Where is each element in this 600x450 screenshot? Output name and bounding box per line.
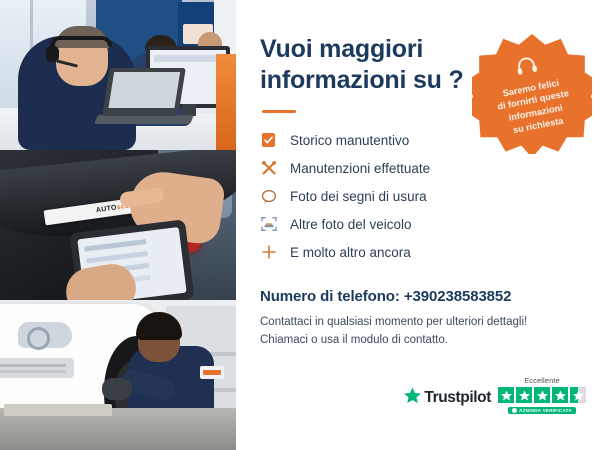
title-divider bbox=[262, 110, 296, 113]
phone-number-line: Numero di telefono: +390238583852 bbox=[260, 288, 578, 305]
phone-number[interactable]: +390238583852 bbox=[404, 288, 512, 305]
rating-star-4 bbox=[552, 387, 568, 403]
car-headlight bbox=[18, 322, 72, 348]
orange-partition bbox=[216, 54, 236, 150]
photo-column: AUTOscout bbox=[0, 0, 236, 450]
list-item-label: Manutenzioni effettuate bbox=[290, 161, 430, 176]
phone-label: Numero di telefono: bbox=[260, 288, 404, 305]
trustpilot-rating-label: Eccellente bbox=[524, 376, 560, 385]
trustpilot-widget[interactable]: Trustpilot Eccellente bbox=[404, 376, 586, 414]
laptop-base bbox=[94, 115, 194, 124]
list-item-molto-altro-ancora: E molto altro ancora bbox=[260, 238, 578, 266]
trustpilot-star-row bbox=[498, 387, 586, 403]
speech-bubble-icon bbox=[260, 188, 277, 205]
list-item-label: Foto dei segni di usura bbox=[290, 189, 427, 204]
headset-band bbox=[50, 36, 112, 46]
car-frame-icon bbox=[260, 216, 277, 233]
star-icon bbox=[404, 387, 421, 409]
trustpilot-rating: Eccellente bbox=[498, 376, 586, 414]
rating-star-2 bbox=[516, 387, 532, 403]
list-item-altre-foto-veicolo: Altre foto del veicolo bbox=[260, 210, 578, 238]
photo-call-center-agents-with-headsets bbox=[0, 0, 236, 150]
car-grille bbox=[0, 358, 74, 378]
document-check-icon bbox=[260, 132, 277, 149]
plus-icon bbox=[260, 244, 277, 261]
list-item-label: Altre foto del veicolo bbox=[290, 217, 412, 232]
uniform-logo-patch bbox=[200, 366, 224, 379]
callout-badge-text: Saremo felici di fornirti queste informa… bbox=[485, 73, 585, 140]
contact-subtext-line-2: Chiamaci o usa il modulo di contatto. bbox=[260, 334, 448, 346]
content-panel: Vuoi maggiori informazioni su ? Storico … bbox=[236, 0, 600, 450]
wrench-screwdriver-icon bbox=[260, 160, 277, 177]
rating-star-5-partial bbox=[570, 387, 586, 403]
headset-icon bbox=[514, 54, 540, 81]
list-item-label: E molto altro ancora bbox=[290, 245, 411, 260]
callout-badge: Saremo felici di fornirti queste informa… bbox=[472, 34, 592, 154]
lift-arm bbox=[4, 404, 112, 416]
page-title: Vuoi maggiori informazioni su ? bbox=[260, 34, 490, 96]
list-item-label: Storico manutentivo bbox=[290, 133, 409, 148]
callout-badge-content: Saremo felici di fornirti queste informa… bbox=[462, 24, 600, 165]
photo-vehicle-inspection-ruler-tablet: AUTOscout bbox=[0, 150, 236, 300]
contact-subtext: Contattaci in qualsiasi momento per ulte… bbox=[260, 313, 578, 349]
promo-banner: AUTOscout Vuoi maggiori infor bbox=[0, 0, 600, 450]
trustpilot-logo: Trustpilot bbox=[404, 387, 491, 414]
list-item-manutenzioni-effettuate: Manutenzioni effettuate bbox=[260, 154, 578, 182]
laptop-screen bbox=[102, 68, 186, 116]
check-circle-icon bbox=[512, 408, 517, 413]
contact-subtext-line-1: Contattaci in qualsiasi momento per ulte… bbox=[260, 316, 527, 328]
verified-business-badge: AZIENDA VERIFICATA bbox=[508, 407, 576, 414]
page-title-line-2: informazioni su ? bbox=[260, 66, 464, 94]
photo-mechanic-inspecting-wheel-on-lift bbox=[0, 300, 236, 450]
page-title-line-1: Vuoi maggiori bbox=[260, 35, 423, 63]
list-item-foto-segni-usura: Foto dei segni di usura bbox=[260, 182, 578, 210]
mechanic-glove bbox=[102, 378, 132, 400]
verified-business-label: AZIENDA VERIFICATA bbox=[519, 408, 572, 413]
rating-star-1 bbox=[498, 387, 514, 403]
trustpilot-wordmark: Trustpilot bbox=[424, 389, 491, 407]
rating-star-3 bbox=[534, 387, 550, 403]
